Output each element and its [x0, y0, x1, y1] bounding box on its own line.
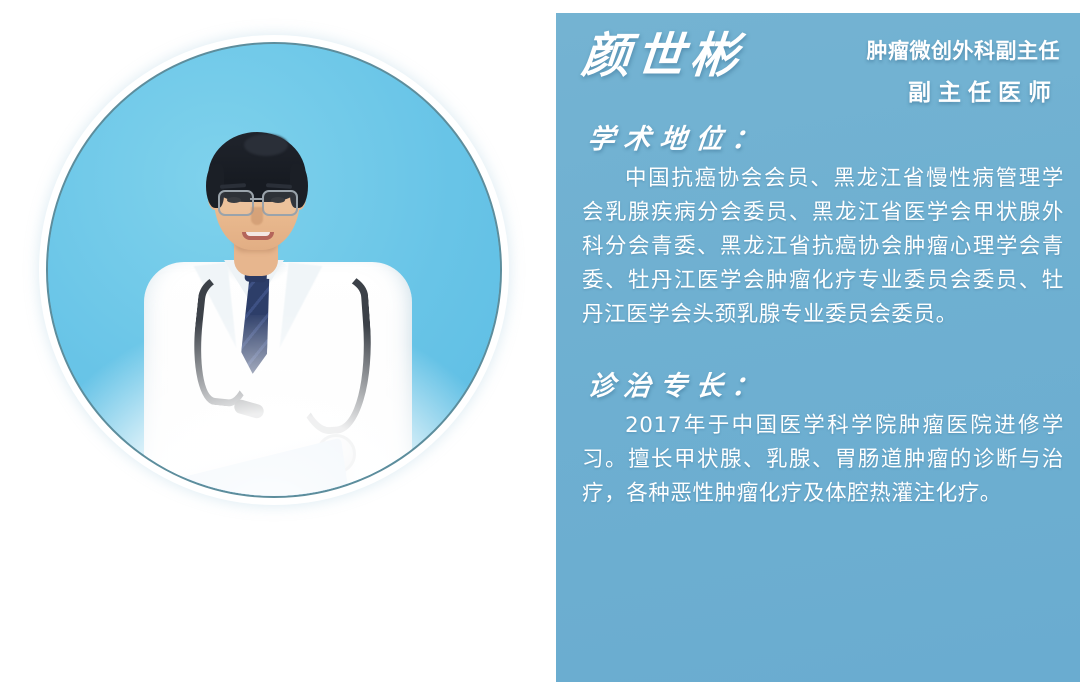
portrait-circle-frame: [46, 42, 502, 498]
hair-highlight: [244, 134, 288, 156]
section-body-expertise: 2017年于中国医学科学院肿瘤医院进修学习。擅长甲状腺、乳腺、胃肠道肿瘤的诊断与…: [582, 409, 1064, 511]
doctor-info-panel: 颜世彬 肿瘤微创外科副主任 副主任医师 学术地位： 中国抗癌协会会员、黑龙江省慢…: [556, 13, 1080, 682]
doctor-title-secondary: 副主任医师: [867, 73, 1061, 107]
eyeglass-bridge: [250, 198, 262, 200]
section-body-academic: 中国抗癌协会会员、黑龙江省慢性病管理学会乳腺疾病分会委员、黑龙江省医学会甲状腺外…: [582, 162, 1064, 332]
doctor-name: 颜世彬: [568, 31, 746, 81]
section-expertise: 诊治专长： 2017年于中国医学科学院肿瘤医院进修学习。擅长甲状腺、乳腺、胃肠道…: [556, 358, 1080, 511]
portrait-card: 专业：肿瘤外微创: [0, 0, 546, 601]
nose: [251, 207, 263, 225]
section-heading-expertise: 诊治专长：: [586, 364, 770, 403]
teeth: [246, 232, 270, 236]
section-heading-academic: 学术地位：: [586, 117, 770, 156]
section-academic-standing: 学术地位： 中国抗癌协会会员、黑龙江省慢性病管理学会乳腺疾病分会委员、黑龙江省医…: [556, 111, 1080, 332]
eyeglass-lens-right: [262, 190, 298, 216]
panel-header: 颜世彬 肿瘤微创外科副主任 副主任医师: [556, 13, 1080, 109]
disc-bottom-glow: [46, 315, 502, 498]
doctor-title-primary: 肿瘤微创外科副主任: [867, 35, 1061, 65]
doctor-titles: 肿瘤微创外科副主任 副主任医师: [867, 31, 1065, 107]
eyeglass-lens-left: [218, 190, 254, 216]
doctor-profile-poster: 专业：肿瘤外微创 颜世彬 肿瘤微创外科副主任 副主任医师 学术地位： 中国抗癌协…: [0, 0, 1080, 682]
